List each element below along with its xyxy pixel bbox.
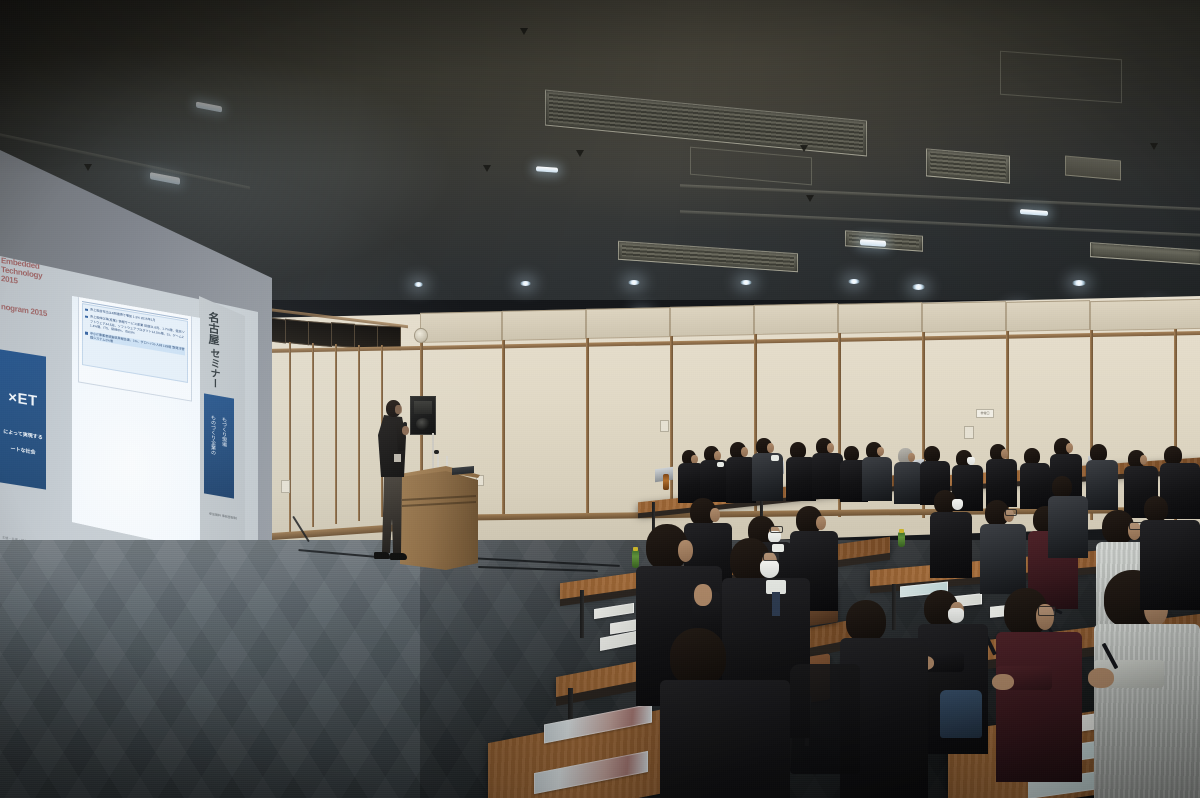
wall-transom-panel	[754, 303, 838, 335]
ceiling-downlight	[1072, 280, 1086, 286]
wall-stile	[289, 342, 291, 532]
ceiling-downlight	[740, 280, 752, 285]
speaker-grill	[414, 401, 432, 414]
ceiling-downlight	[520, 281, 531, 286]
banner-blue-block: ×ET によって実現する ートな社会	[0, 349, 46, 489]
wall-stile	[502, 340, 505, 515]
speaker-driver	[416, 418, 430, 430]
ceiling-downlight	[848, 279, 860, 284]
presenter-hand	[402, 426, 409, 435]
sign-line-2: セミナー	[208, 347, 221, 389]
table-leg	[892, 584, 896, 630]
banner-headline: ×ET	[0, 387, 46, 411]
exit-door-sign: 非常口	[976, 409, 994, 418]
sprinkler-head	[84, 164, 92, 171]
wall-transom-panel	[420, 311, 502, 343]
wall-outlet[interactable]	[660, 420, 669, 432]
table-leg	[580, 590, 584, 638]
green-tea-bottle	[898, 532, 905, 547]
bottle-cap	[633, 547, 638, 551]
ceiling-downlight	[628, 280, 640, 285]
wall-stile	[335, 344, 337, 524]
sprinkler-head	[1150, 143, 1158, 150]
wall-transom-panel	[586, 307, 670, 339]
wall-outlet[interactable]	[281, 480, 290, 493]
sign-blue-panel: ものづくり企業の もづくり現場	[204, 393, 234, 498]
presenter-shoe	[374, 552, 390, 559]
speaker-cable	[432, 433, 434, 473]
banner-subline-1: によって実現する	[0, 427, 46, 441]
wall-transom-panel	[502, 309, 586, 341]
presenter-face	[395, 405, 402, 414]
wall-transom-panel	[670, 305, 754, 337]
banner-subline-2: ートな社会	[0, 443, 46, 457]
coat-on-chair	[790, 664, 860, 774]
presenter	[372, 400, 412, 562]
sign-panel-line-1: ものづくり企業の	[210, 414, 217, 455]
wall-stile	[586, 338, 589, 516]
wall-mounted-speaker	[410, 396, 436, 435]
ceiling-downlight	[414, 282, 423, 287]
sprinkler-head	[483, 165, 491, 172]
wall-outlet[interactable]	[964, 426, 974, 439]
projection-screen: 情報サービス産業における ITを取り巻く状況 売上高前年比は4期連続で増加 1.…	[72, 292, 200, 550]
wall-transom-panel	[1090, 299, 1200, 331]
sign-panel-line-2: もづくり現場	[221, 416, 228, 447]
photo-scene: 非常口 Embedded Technology 2015 nogram 2015…	[0, 0, 1200, 798]
ceiling-access-panel	[1000, 51, 1122, 104]
bottle-cap	[899, 529, 904, 533]
sprinkler-head	[576, 150, 584, 157]
wall-fixture	[414, 328, 428, 343]
wall-transom-panel	[1006, 300, 1090, 332]
sign-line-1: 名古屋	[208, 311, 221, 346]
banner-logo-nogram: nogram 2015	[1, 302, 51, 319]
sign-footer: 参加無料 事前登録制	[209, 512, 237, 521]
wall-stile	[670, 336, 673, 516]
wall-stile	[358, 345, 360, 521]
attendee-bag	[940, 690, 982, 738]
wall-transom-panel	[838, 302, 922, 334]
presenter-shoe	[390, 553, 407, 560]
wall-transom-panel	[922, 301, 1006, 333]
gooseneck-microphone-head	[434, 450, 439, 454]
sprinkler-head	[806, 195, 814, 202]
wall-stile	[312, 343, 314, 527]
ceiling-downlight	[912, 284, 925, 290]
sprinkler-head	[520, 28, 528, 35]
sprinkler-head	[800, 145, 808, 152]
presenter-name-badge	[394, 454, 401, 462]
presenter-legs	[381, 475, 404, 553]
green-tea-bottle	[632, 550, 639, 568]
tea-bottle	[663, 474, 669, 490]
